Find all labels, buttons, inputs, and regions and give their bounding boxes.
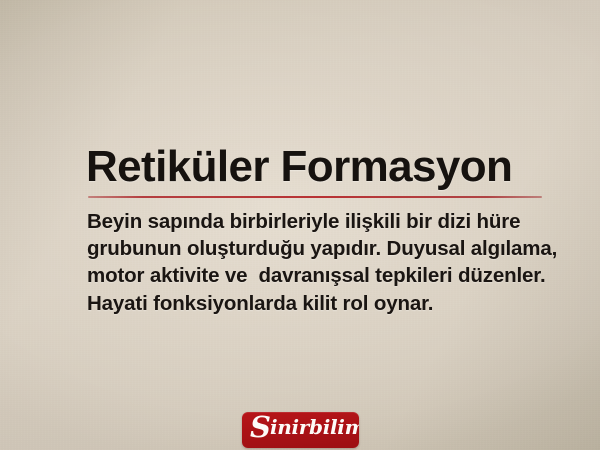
- poster-content: Retiküler Formasyon Beyin sapında birbir…: [0, 0, 600, 450]
- poster-body-text: Beyin sapında birbirleriyle ilişkili bir…: [87, 208, 562, 317]
- brand-initial: S: [250, 412, 270, 444]
- poster-title: Retiküler Formasyon: [86, 142, 556, 192]
- title-underline-rule: [88, 196, 542, 198]
- poster-wall-panel: Retiküler Formasyon Beyin sapında birbir…: [0, 0, 600, 450]
- brand-badge-label: Sinirbilim: [250, 415, 359, 439]
- brand-badge: Sinirbilim: [242, 412, 359, 448]
- brand-name-rest: inirbilim: [270, 415, 359, 439]
